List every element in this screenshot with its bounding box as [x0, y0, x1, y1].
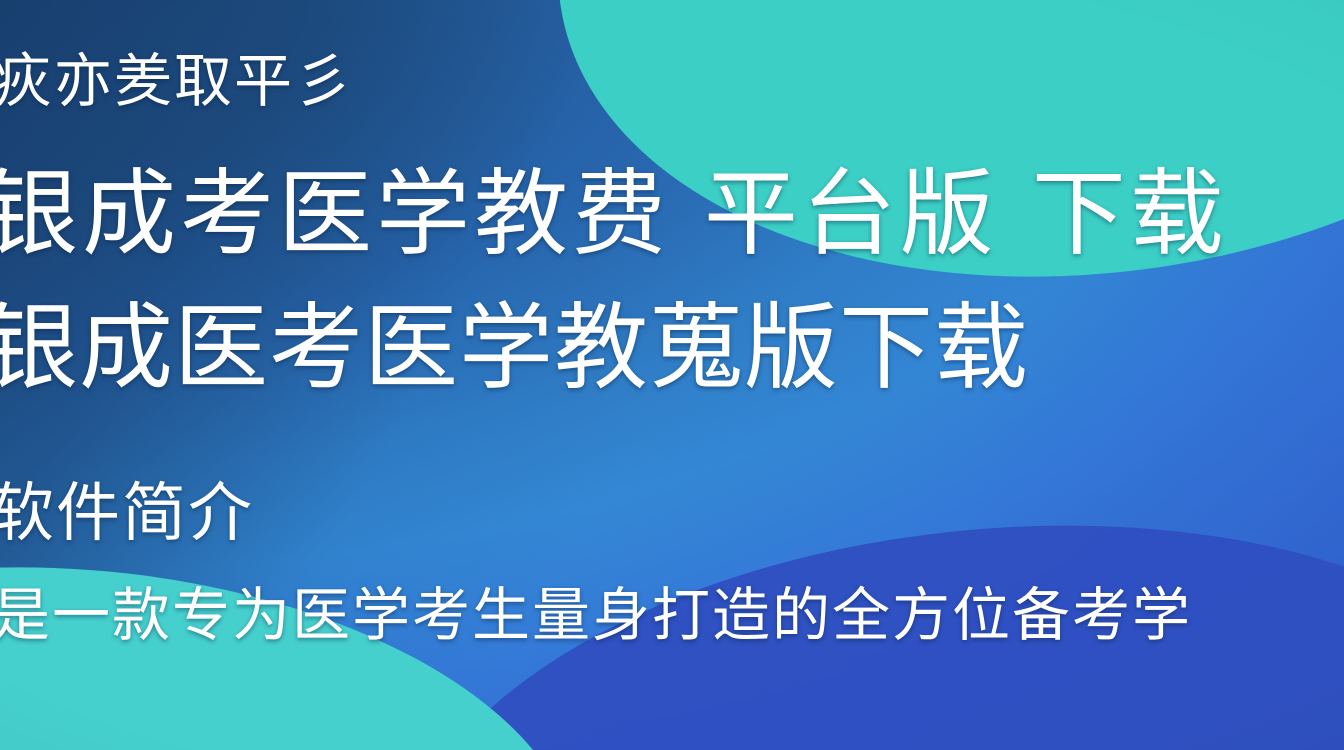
breadcrumb: 疢亦羑取平彡	[0, 52, 354, 110]
section-paragraph: 是一款专为医学考生量身打造的全方位备考学	[0, 586, 1192, 644]
banner-content: 疢亦羑取平彡 银成考医学教费 平台版 下载 银成医考医学教蒐版下载 软件简介 是…	[0, 0, 1344, 750]
page-title-line-2: 银成医考医学教蒐版下载	[0, 302, 1029, 396]
page-title-line-1: 银成考医学教费 平台版 下载	[0, 168, 1228, 262]
section-heading-software-intro: 软件简介	[0, 482, 254, 546]
banner-page: 疢亦羑取平彡 银成考医学教费 平台版 下载 银成医考医学教蒐版下载 软件简介 是…	[0, 0, 1344, 750]
